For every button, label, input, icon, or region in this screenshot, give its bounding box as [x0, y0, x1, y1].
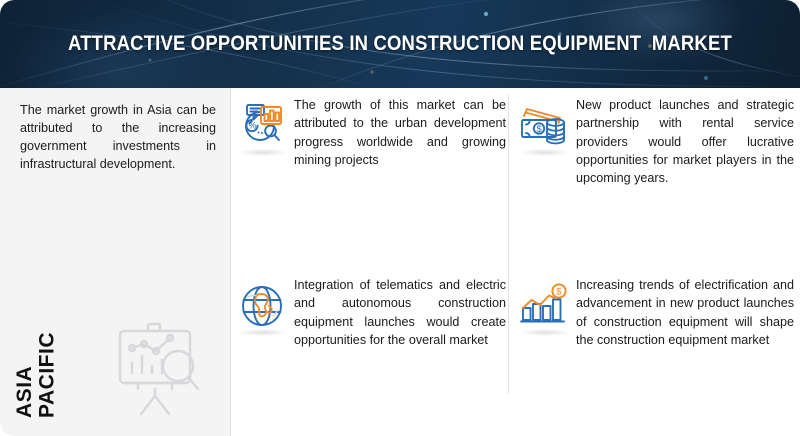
column-divider: [508, 94, 509, 394]
icon-shadow: [238, 329, 288, 336]
icon-shadow: [520, 149, 570, 156]
icon-shadow: [520, 329, 570, 336]
opportunity-card-urban-development: %: [234, 96, 506, 169]
money-coins-icon: $: [516, 98, 572, 154]
page-title: ATTRACTIVE OPPORTUNITIES IN CONSTRUCTION…: [48, 0, 752, 88]
poster-body: The market growth in Asia can be attribu…: [0, 88, 800, 436]
svg-text:$: $: [537, 124, 542, 134]
bar-chart-growth-dollar-icon: $: [516, 278, 572, 334]
pie-chart-search-icon: %: [234, 98, 290, 154]
poster-header: ATTRACTIVE OPPORTUNITIES IN CONSTRUCTION…: [0, 0, 800, 88]
globe-icon: [234, 278, 290, 334]
opportunity-text: Increasing trends of electrification and…: [576, 276, 794, 349]
opportunities-grid: %: [230, 88, 800, 436]
opportunity-text: New product launches and strategic partn…: [576, 96, 794, 187]
infographic-poster: ATTRACTIVE OPPORTUNITIES IN CONSTRUCTION…: [0, 0, 800, 436]
opportunity-text: Integration of telematics and electric a…: [294, 276, 506, 349]
region-label: ASIAPACIFIC: [14, 332, 59, 418]
opportunity-text: The growth of this market can be attribu…: [294, 96, 506, 169]
opportunity-card-telematics-electric-autonomous: Integration of telematics and electric a…: [234, 276, 506, 349]
presentation-board-analytics-icon: [108, 318, 212, 422]
opportunity-card-product-launches-partnership: $ New product launches and strategic par…: [516, 96, 794, 187]
opportunity-card-electrification-trends: $ Increasing trends of electrification a…: [516, 276, 794, 349]
svg-text:$: $: [556, 287, 561, 297]
svg-text:%: %: [249, 121, 257, 131]
icon-shadow: [238, 149, 288, 156]
region-note-text: The market growth in Asia can be attribu…: [20, 102, 216, 174]
region-panel: The market growth in Asia can be attribu…: [0, 88, 231, 436]
